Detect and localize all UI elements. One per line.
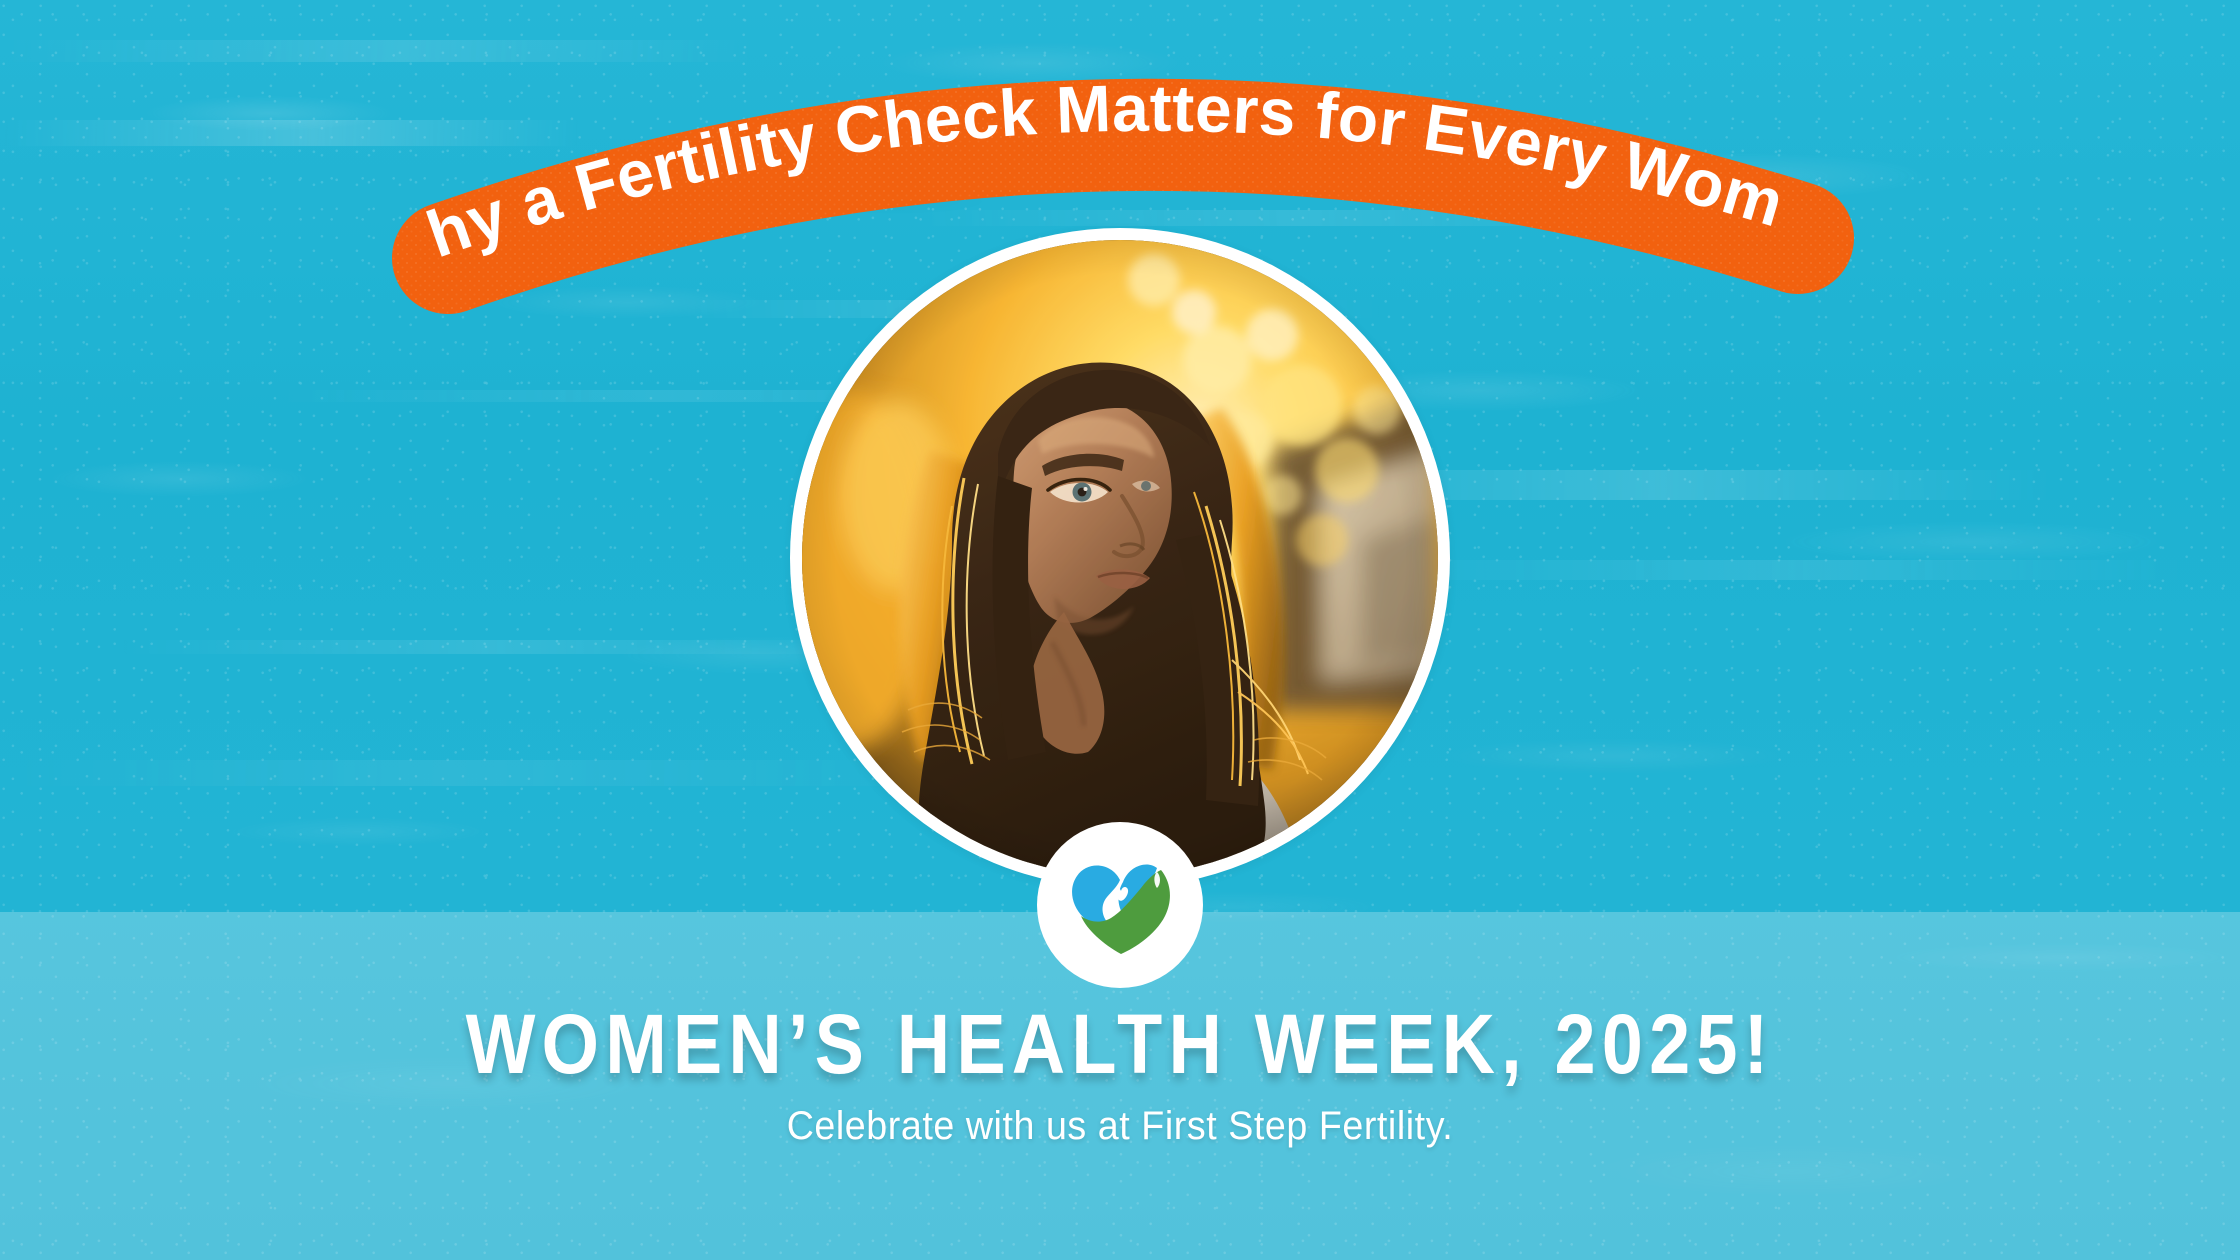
page-title: WOMEN’S HEALTH WEEK, 2025! — [134, 1002, 2105, 1088]
hero-photo — [802, 240, 1438, 876]
logo-badge — [1037, 822, 1203, 988]
promo-graphic-canvas: Why a Fertility Check Matters for Every … — [0, 0, 2240, 1260]
page-subtitle: Celebrate with us at First Step Fertilit… — [67, 1104, 2173, 1149]
first-step-fertility-heart-logo — [1057, 842, 1183, 968]
logo-heart-blue-lobe — [1072, 866, 1120, 924]
hero-photo-ring — [790, 228, 1450, 888]
